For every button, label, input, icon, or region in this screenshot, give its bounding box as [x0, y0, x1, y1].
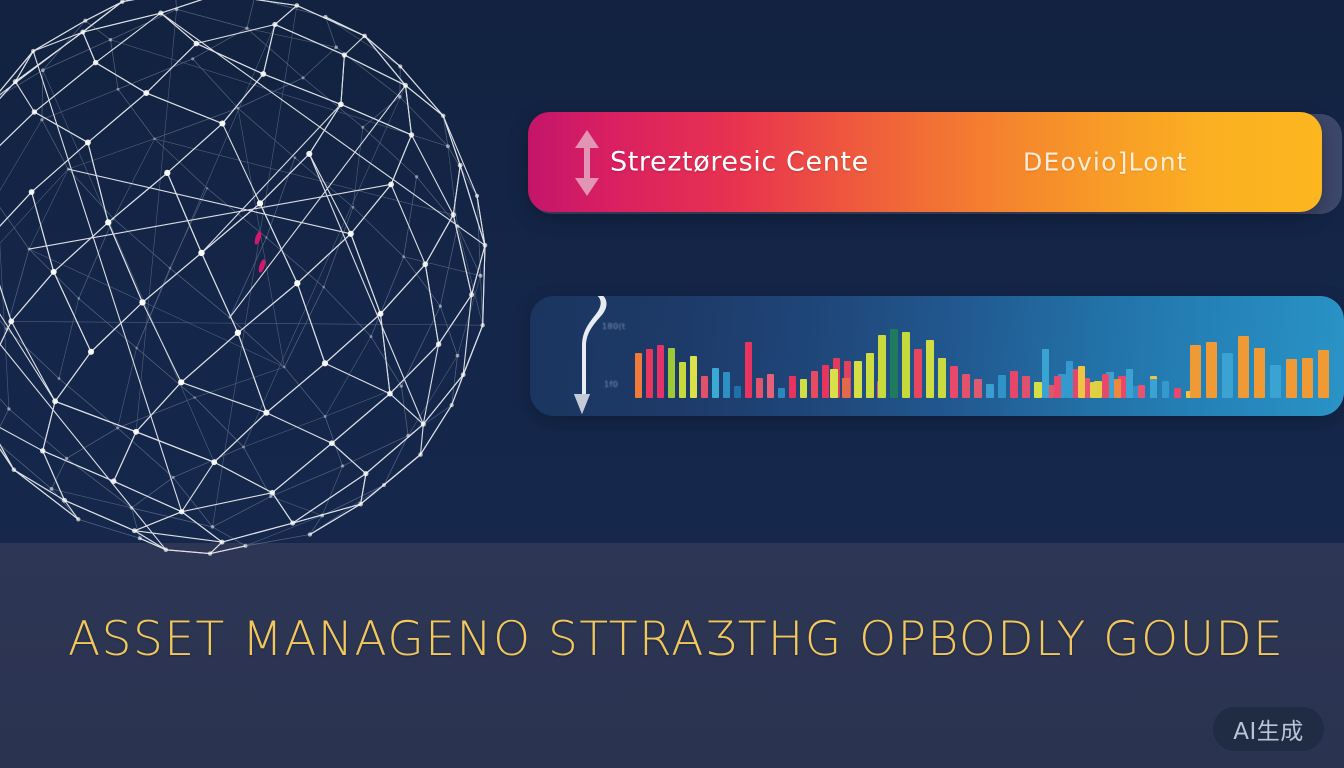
chart-bar	[668, 348, 675, 398]
chart-bar	[866, 353, 874, 398]
chart-bar	[926, 340, 934, 398]
chart-bar	[811, 371, 818, 398]
double-arrow-vertical-icon	[568, 128, 606, 198]
chart-bar	[1102, 374, 1109, 398]
chart-bar	[854, 361, 862, 398]
chart-bar	[842, 378, 850, 398]
chart-bar	[1022, 376, 1030, 398]
chart-bar	[1222, 353, 1233, 398]
chart-bar	[962, 374, 970, 398]
chart-bar	[1286, 359, 1297, 398]
chart-bar	[1270, 365, 1281, 398]
chart-bar	[1190, 345, 1201, 398]
curved-down-arrow-icon	[552, 296, 612, 416]
bar-chart	[530, 296, 1344, 416]
chart-bar	[1090, 382, 1097, 398]
chart-bar	[1302, 358, 1313, 398]
chart-bar	[778, 388, 785, 398]
chart-bar	[830, 369, 838, 398]
chart-bar	[1238, 336, 1249, 398]
chart-bar	[635, 353, 642, 398]
chart-banner[interactable]: 180(t 1f0	[530, 296, 1344, 416]
chart-bar	[950, 366, 958, 398]
chart-bar	[789, 376, 796, 398]
primary-banner-label-right: DEovio]Lont	[1023, 148, 1188, 177]
chart-bar	[712, 368, 719, 398]
chart-bar	[1150, 379, 1157, 398]
chart-bar	[767, 374, 774, 398]
chart-bar	[914, 349, 922, 398]
chart-bar	[734, 386, 741, 398]
chart-bar	[756, 378, 763, 398]
chart-bar	[690, 356, 697, 398]
chart-bar	[1066, 361, 1073, 398]
page-title: ASSET MANAGENO STTRAƷTHG OPBODLY GOUDE	[68, 612, 1284, 667]
chart-bar	[1034, 382, 1042, 398]
chart-bar	[822, 365, 829, 398]
ai-generated-badge: AI生成	[1213, 707, 1324, 751]
chart-bar	[902, 332, 910, 398]
chart-bar	[1254, 348, 1265, 398]
chart-bar	[657, 345, 664, 398]
chart-bar	[1138, 385, 1145, 398]
chart-bar	[701, 376, 708, 398]
chart-bar	[938, 358, 946, 398]
chart-bar	[1206, 342, 1217, 398]
chart-bar	[1078, 366, 1085, 398]
chart-bar	[1318, 350, 1329, 398]
network-sphere-graphic	[0, 0, 520, 570]
chart-bar	[974, 379, 982, 398]
screenshot-canvas: Streztøresic Cente DEovio]Lont 180(t 1f0…	[0, 0, 1344, 768]
chart-bar	[1042, 349, 1049, 398]
chart-bar	[800, 379, 807, 398]
chart-bar	[646, 349, 653, 398]
chart-bar	[1162, 381, 1169, 398]
chart-bar	[723, 372, 730, 398]
chart-bar	[1010, 371, 1018, 398]
chart-bar	[998, 375, 1006, 398]
primary-banner-label-left: Streztøresic Cente	[610, 147, 869, 178]
chart-bar	[1174, 388, 1181, 398]
chart-bar	[1054, 376, 1061, 398]
chart-bar	[679, 362, 686, 398]
chart-bar	[745, 342, 752, 398]
chart-bar	[986, 384, 994, 398]
chart-bar	[1114, 379, 1121, 398]
primary-banner[interactable]: Streztøresic Cente DEovio]Lont	[528, 112, 1322, 212]
chart-bar	[890, 329, 898, 398]
chart-bar	[1126, 369, 1133, 398]
chart-bar	[878, 335, 886, 398]
